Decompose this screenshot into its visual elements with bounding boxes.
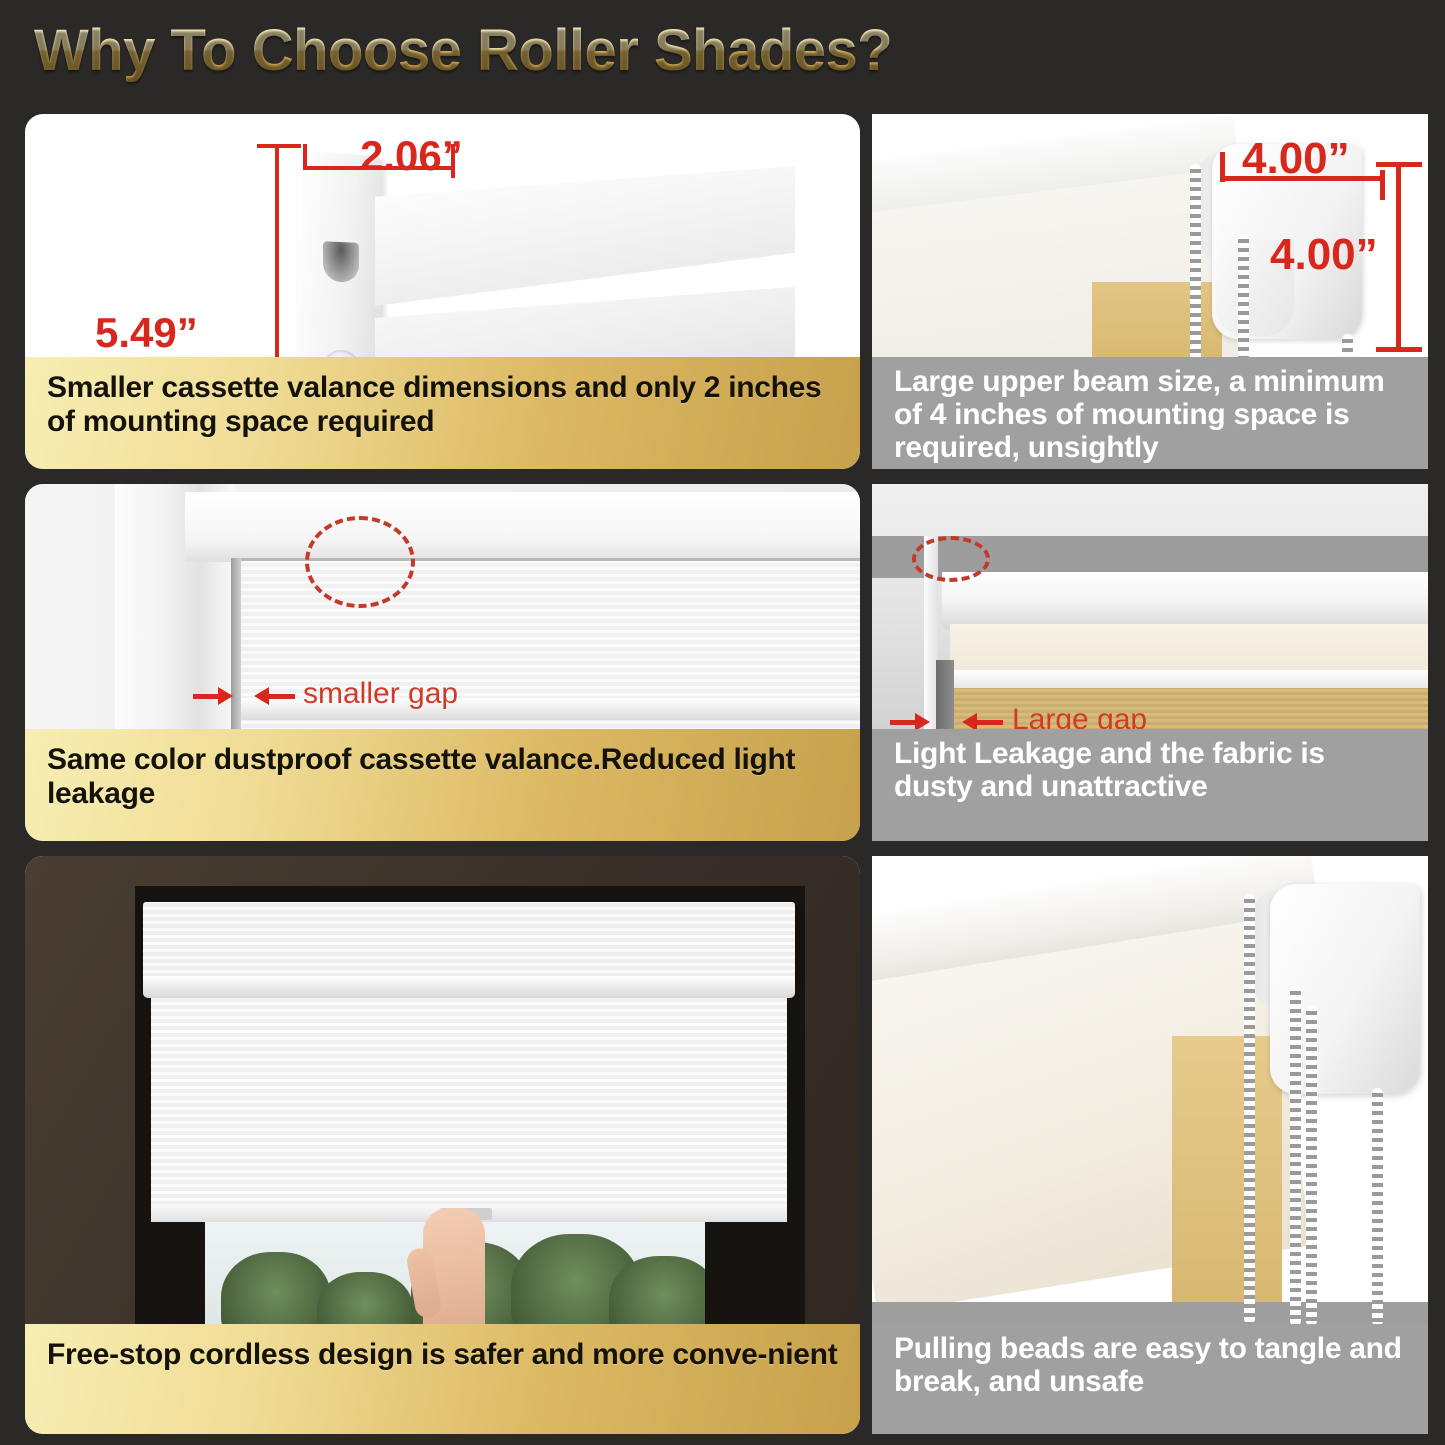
height-dim-tick-top bbox=[257, 144, 301, 148]
bead-chain-left bbox=[1244, 894, 1255, 1324]
height-dim-line bbox=[275, 144, 279, 357]
gap-arrow-left-pointing bbox=[962, 713, 977, 729]
width-dimension-label: 2.06” bbox=[360, 132, 463, 180]
smaller-gap-label: smaller gap bbox=[303, 677, 458, 711]
beam-width-tick-right bbox=[1380, 170, 1385, 200]
panel-caption: Same color dustproof cassette valance.Re… bbox=[25, 729, 860, 841]
height-dimension-label: 5.49” bbox=[95, 309, 198, 357]
gap-arrow-right-pointing bbox=[218, 687, 233, 705]
bead-chain-middle-2 bbox=[1306, 1006, 1317, 1324]
surface-shadow bbox=[872, 1302, 1428, 1324]
gap-arrow-tail-right bbox=[977, 720, 1003, 725]
cassette-valance-photo: 2.06” 5.49” bbox=[25, 114, 860, 357]
gap-arrow-tail-left bbox=[890, 720, 916, 725]
cordless-design-photo bbox=[25, 856, 860, 1324]
tan-fabric bbox=[1172, 1036, 1282, 1324]
panel-cassette-valance: 2.06” 5.49” Smaller cassette valance dim… bbox=[25, 114, 860, 469]
beam-width-label: 4.00” bbox=[1242, 134, 1350, 184]
tree-foliage bbox=[221, 1252, 331, 1324]
valance-top-shell bbox=[375, 166, 795, 306]
light-leakage-photo: Large gap bbox=[872, 484, 1428, 729]
highlight-ellipse bbox=[912, 536, 990, 582]
valance-end-bracket bbox=[297, 152, 383, 357]
cream-fabric bbox=[950, 624, 1428, 674]
window-head-trim bbox=[185, 492, 860, 562]
highlight-ellipse bbox=[305, 516, 415, 608]
bead-chain-middle bbox=[1238, 234, 1249, 357]
panel-caption: Light Leakage and the fabric is dusty an… bbox=[872, 729, 1428, 841]
comparison-grid: 2.06” 5.49” Smaller cassette valance dim… bbox=[0, 104, 1445, 1445]
panel-dustproof-valance: smaller gap Same color dustproof cassett… bbox=[25, 484, 860, 841]
gap-arrow-right-pointing bbox=[915, 713, 930, 729]
bead-chain-right bbox=[1342, 334, 1353, 357]
pulling-beads-photo bbox=[872, 856, 1428, 1324]
dustproof-valance-photo: smaller gap bbox=[25, 484, 860, 729]
bead-chain-middle bbox=[1290, 986, 1301, 1324]
panel-caption: Large upper beam size, a minimum of 4 in… bbox=[872, 357, 1428, 469]
panel-caption: Free-stop cordless design is safer and m… bbox=[25, 1324, 860, 1434]
gap-arrow-tail-left bbox=[193, 694, 219, 699]
white-rail bbox=[950, 670, 1428, 688]
gap-arrow-left-pointing bbox=[254, 687, 269, 705]
beam-width-tick-left bbox=[1220, 152, 1225, 182]
valance-lip bbox=[143, 976, 795, 998]
bead-chain-left bbox=[1190, 164, 1201, 357]
beam-height-dim-line bbox=[1396, 162, 1401, 352]
shade-fabric bbox=[151, 998, 787, 1208]
cassette-valance bbox=[143, 902, 795, 980]
panel-pulling-beads: Pulling beads are easy to tangle and bre… bbox=[872, 856, 1428, 1434]
gap-arrow-tail-right bbox=[269, 694, 295, 699]
upper-beam-photo: 4.00” 4.00” bbox=[872, 114, 1428, 357]
bead-chain-right bbox=[1372, 1088, 1383, 1324]
large-gap-label: Large gap bbox=[1012, 703, 1147, 729]
panel-caption: Pulling beads are easy to tangle and bre… bbox=[872, 1324, 1428, 1434]
beam-height-tick-bottom bbox=[1376, 347, 1422, 352]
bracket-screw bbox=[323, 349, 361, 357]
header: Why To Choose Roller Shades? bbox=[0, 0, 1445, 100]
page-title: Why To Choose Roller Shades? bbox=[34, 17, 892, 84]
panel-light-leakage: Large gap Light Leakage and the fabric i… bbox=[872, 484, 1428, 841]
beam-height-label: 4.00” bbox=[1270, 230, 1378, 280]
tan-fabric bbox=[1092, 282, 1222, 357]
beam-height-tick-top bbox=[1376, 162, 1422, 167]
bracket-slot bbox=[323, 241, 359, 283]
panel-cordless-design: Free-stop cordless design is safer and m… bbox=[25, 856, 860, 1434]
tree-foliage bbox=[317, 1272, 413, 1324]
shade-fabric-lower bbox=[241, 720, 860, 729]
side-gap bbox=[936, 660, 954, 729]
panel-caption: Smaller cassette valance dimensions and … bbox=[25, 357, 860, 469]
width-dim-tick-left bbox=[303, 144, 307, 170]
panel-upper-beam: 4.00” 4.00” Large upper beam size, a min… bbox=[872, 114, 1428, 469]
roller-tube bbox=[942, 572, 1428, 630]
